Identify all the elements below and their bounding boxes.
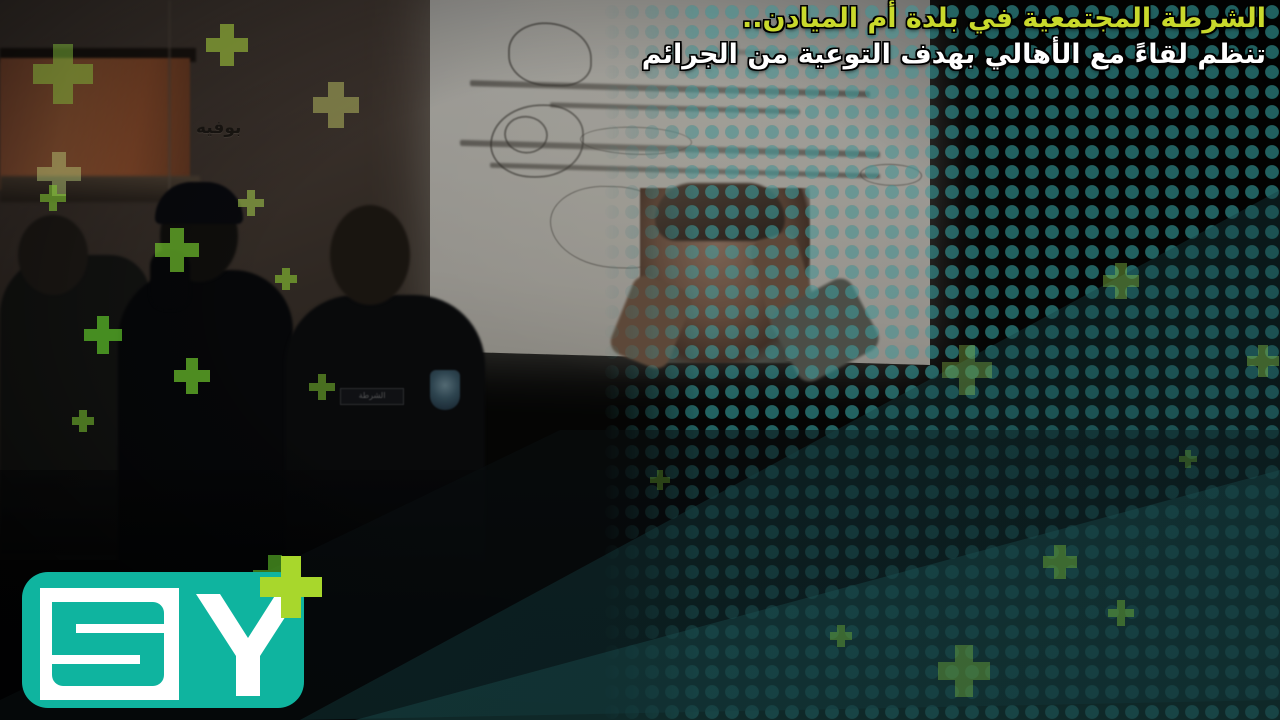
logo-white-square	[40, 588, 179, 700]
officer-name-tag: الشرطة	[340, 388, 404, 405]
officer-shoulder-badge	[430, 370, 460, 410]
sy-plus-logo[interactable]	[22, 556, 322, 708]
lit-doorway	[0, 58, 190, 190]
video-frame: بوفيه الشرطة الشرطة المجتمعية في بلدة أم…	[0, 0, 1280, 720]
slide-person-hair	[655, 183, 785, 241]
person-left-head	[18, 215, 88, 295]
person-middle-arm	[150, 250, 190, 310]
logo-s-bottom-bar	[52, 664, 164, 686]
officer-name-tag-label: الشرطة	[341, 389, 403, 402]
wall-sign-buffet: بوفيه	[196, 118, 241, 138]
logo-letter-y	[194, 592, 302, 698]
officer-head	[330, 205, 410, 305]
